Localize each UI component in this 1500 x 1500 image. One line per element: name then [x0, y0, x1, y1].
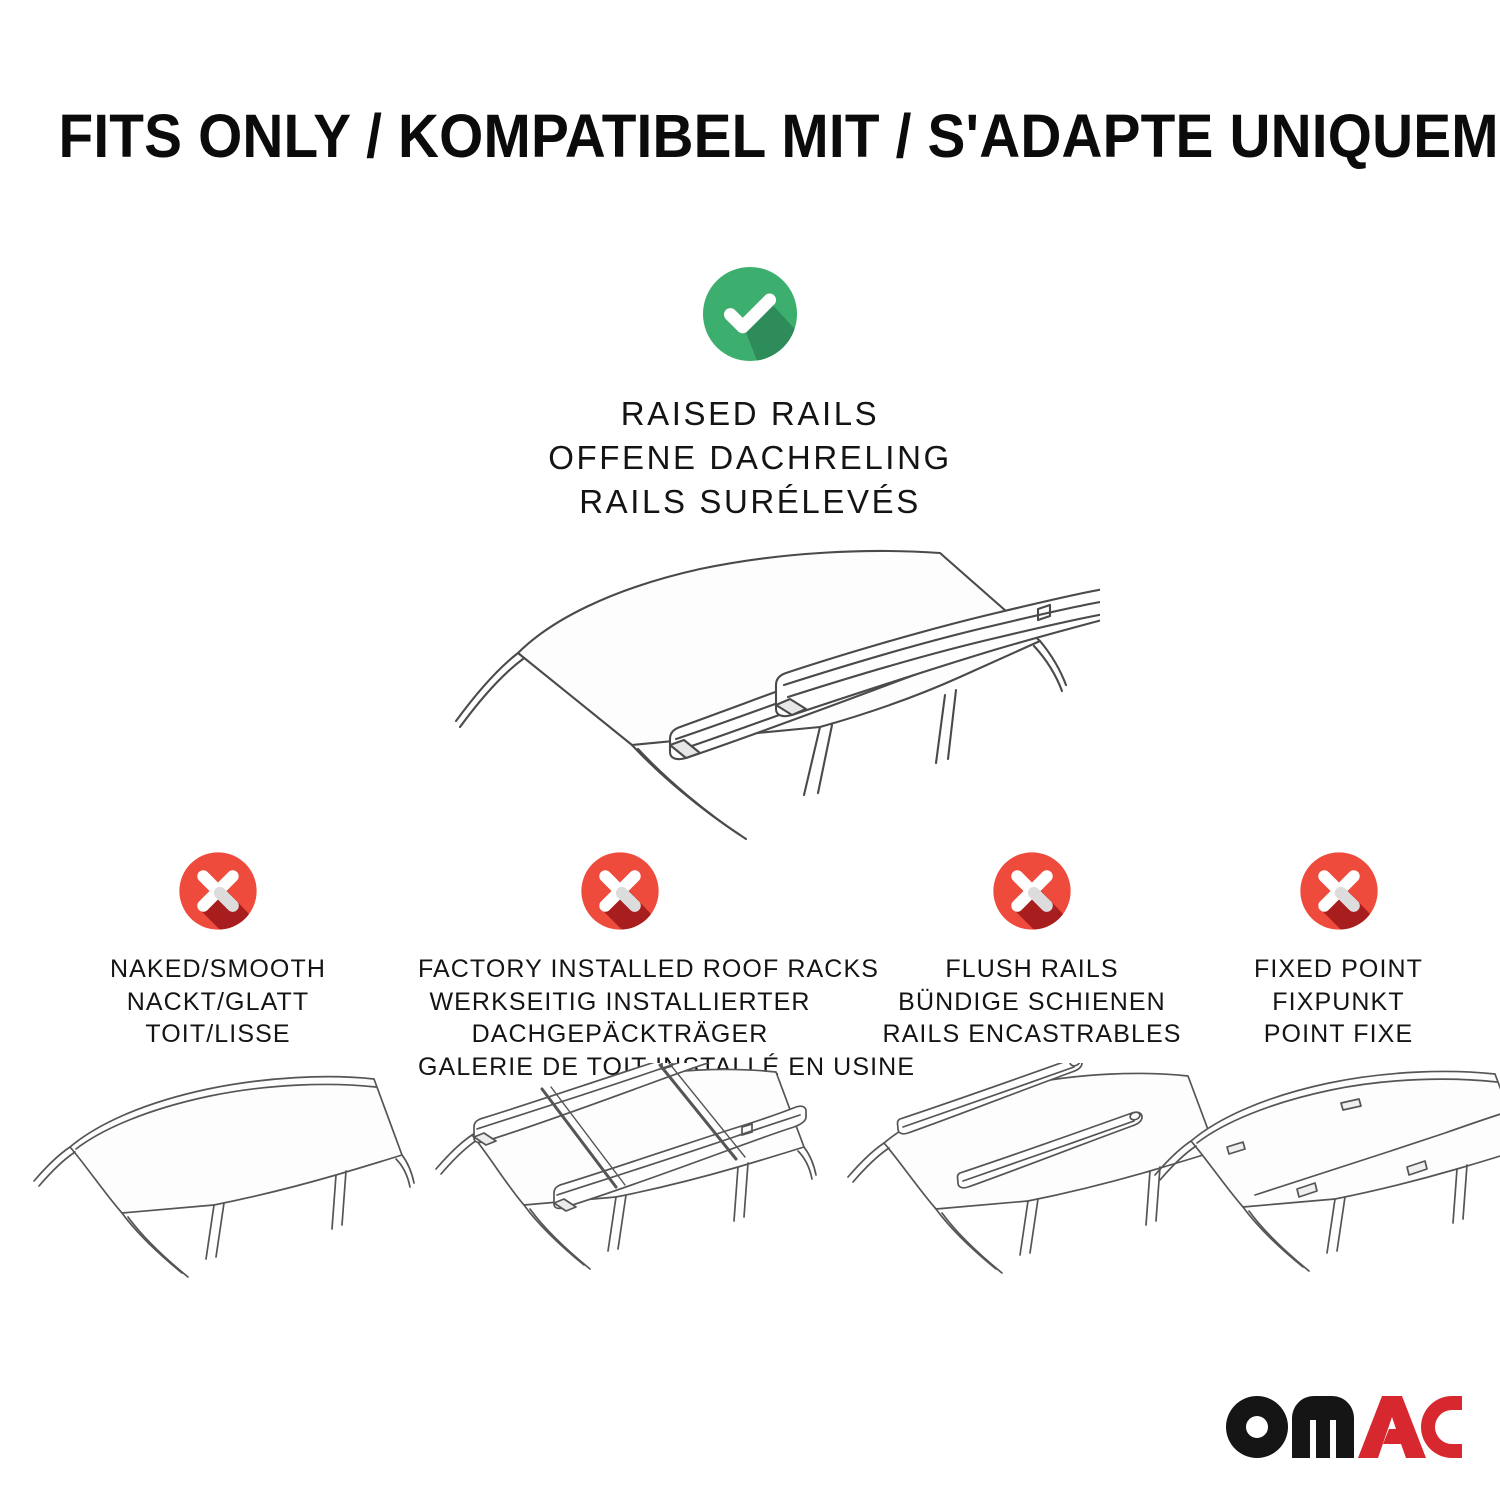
incompatible-item-naked-smooth: NAKED/SMOOTH NACKT/GLATT TOIT/LISSE [28, 845, 408, 1051]
caption-line-2: BÜNDIGE SCHIENEN [838, 986, 1226, 1019]
caption-line-1: FACTORY INSTALLED ROOF RACKS [418, 953, 822, 986]
compatible-caption: RAISED RAILS OFFENE DACHRELING RAILS SUR… [0, 392, 1500, 524]
caption-line-2: NACKT/GLATT [28, 986, 408, 1019]
page-title-text: FITS ONLY / KOMPATIBEL MIT / S'ADAPTE UN… [58, 104, 1500, 168]
incompatible-item-fixed-point: FIXED POINT FIXPUNKT POINT FIXE [1196, 845, 1481, 1051]
caption-line-2: WERKSEITIG INSTALLIERTER [418, 986, 822, 1019]
item-caption: FLUSH RAILS BÜNDIGE SCHIENEN RAILS ENCAS… [838, 953, 1226, 1051]
caption-line-3: TOIT/LISSE [28, 1018, 408, 1051]
logo-letter-o [1226, 1396, 1288, 1458]
x-circle-icon [1293, 845, 1385, 937]
incompatible-item-flush-rails: FLUSH RAILS BÜNDIGE SCHIENEN RAILS ENCAS… [838, 845, 1226, 1051]
x-circle-icon [172, 845, 264, 937]
omac-logo [1226, 1396, 1462, 1458]
caption-line-3: DACHGEPÄCKTRÄGER [418, 1018, 822, 1051]
caption-line-3: RAILS ENCASTRABLES [838, 1018, 1226, 1051]
car-roof-factory-racks-diagram [420, 1063, 820, 1293]
compatible-caption-line-1: RAISED RAILS [0, 392, 1500, 436]
page-title: FITS ONLY / KOMPATIBEL MIT / S'ADAPTE UN… [0, 104, 1500, 168]
car-roof-naked-smooth-diagram [18, 1063, 418, 1293]
incompatible-item-factory-installed-roof-racks: FACTORY INSTALLED ROOF RACKS WERKSEITIG … [418, 845, 822, 1083]
compatible-caption-line-2: OFFENE DACHRELING [0, 436, 1500, 480]
caption-line-2: FIXPUNKT [1196, 986, 1481, 1019]
check-circle-icon [694, 258, 806, 370]
compatible-section: RAISED RAILS OFFENE DACHRELING RAILS SUR… [0, 258, 1500, 524]
car-roof-fixed-point-diagram [1139, 1063, 1500, 1293]
x-circle-icon [986, 845, 1078, 937]
logo-letter-c [1421, 1396, 1462, 1458]
caption-line-1: FLUSH RAILS [838, 953, 1226, 986]
logo-letter-a [1358, 1396, 1426, 1458]
logo-letter-m [1292, 1396, 1354, 1458]
caption-line-1: FIXED POINT [1196, 953, 1481, 986]
car-roof-raised-rails-diagram [400, 513, 1100, 843]
item-caption: FIXED POINT FIXPUNKT POINT FIXE [1196, 953, 1481, 1051]
x-circle-icon [574, 845, 666, 937]
incompatible-section: NAKED/SMOOTH NACKT/GLATT TOIT/LISSE [0, 845, 1500, 1305]
item-caption: NAKED/SMOOTH NACKT/GLATT TOIT/LISSE [28, 953, 408, 1051]
caption-line-3: POINT FIXE [1196, 1018, 1481, 1051]
caption-line-1: NAKED/SMOOTH [28, 953, 408, 986]
